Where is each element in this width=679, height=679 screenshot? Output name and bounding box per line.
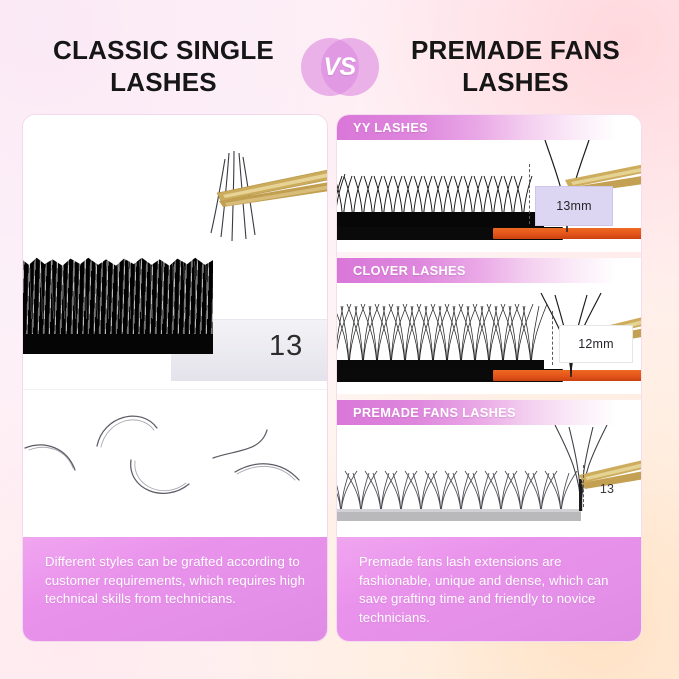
premade-measure-tag: 13 <box>587 473 627 505</box>
vs-badge: VS <box>301 38 379 96</box>
lash-strip-base <box>23 334 213 354</box>
lash-type-sections: YY LASHES <box>337 115 641 537</box>
yy-measure-value: 13mm <box>556 199 592 213</box>
yy-measure-tag: 13mm <box>535 186 613 226</box>
yy-lashes-photo: 13mm <box>337 140 641 252</box>
vs-label: VS <box>323 53 355 82</box>
clover-lash-base-strip <box>337 369 563 382</box>
lash-highlight <box>23 261 213 319</box>
left-panel-title: CLASSIC SINGLE LASHES <box>33 35 301 98</box>
tweezers-with-single-lashes <box>193 145 327 275</box>
section-premade-fans: PREMADE FANS LASHES <box>337 400 641 537</box>
comparison-header: CLASSIC SINGLE LASHES VS PREMADE FANS LA… <box>0 26 679 108</box>
clover-measure-value: 12mm <box>578 337 614 351</box>
section-label-yy: YY LASHES <box>337 115 641 140</box>
clover-lashes-photo: 12mm <box>337 283 641 395</box>
right-panel-title: PREMADE FANS LASHES <box>379 35 647 98</box>
premade-measure-line <box>583 465 584 507</box>
individual-lashes-photo <box>23 389 327 537</box>
tray-length-number: 13 <box>269 330 303 363</box>
premade-fans-lashes-panel: YY LASHES <box>336 114 642 642</box>
section-yy-lashes: YY LASHES <box>337 115 641 252</box>
left-panel-caption: Different styles can be grafted accordin… <box>23 537 327 641</box>
premade-fans-photo: 13 <box>337 425 641 537</box>
scattered-single-lashes <box>23 390 327 537</box>
clover-measure-tag: 12mm <box>559 325 633 363</box>
single-lash-strip <box>23 257 213 354</box>
classic-single-lashes-panel: 13 <box>22 114 328 642</box>
section-clover-lashes: CLOVER LASHES <box>337 258 641 395</box>
section-label-premade-fans: PREMADE FANS LASHES <box>337 400 641 425</box>
clover-measure-line <box>552 311 553 365</box>
section-label-clover: CLOVER LASHES <box>337 258 641 283</box>
yy-measure-line <box>529 164 530 224</box>
right-panel-caption: Premade fans lash extensions are fashion… <box>337 537 641 641</box>
page-background: CLASSIC SINGLE LASHES VS PREMADE FANS LA… <box>0 0 679 679</box>
premade-measure-value: 13 <box>600 482 614 496</box>
classic-lashes-photo: 13 <box>23 115 327 389</box>
yy-lash-base-strip <box>337 227 563 240</box>
